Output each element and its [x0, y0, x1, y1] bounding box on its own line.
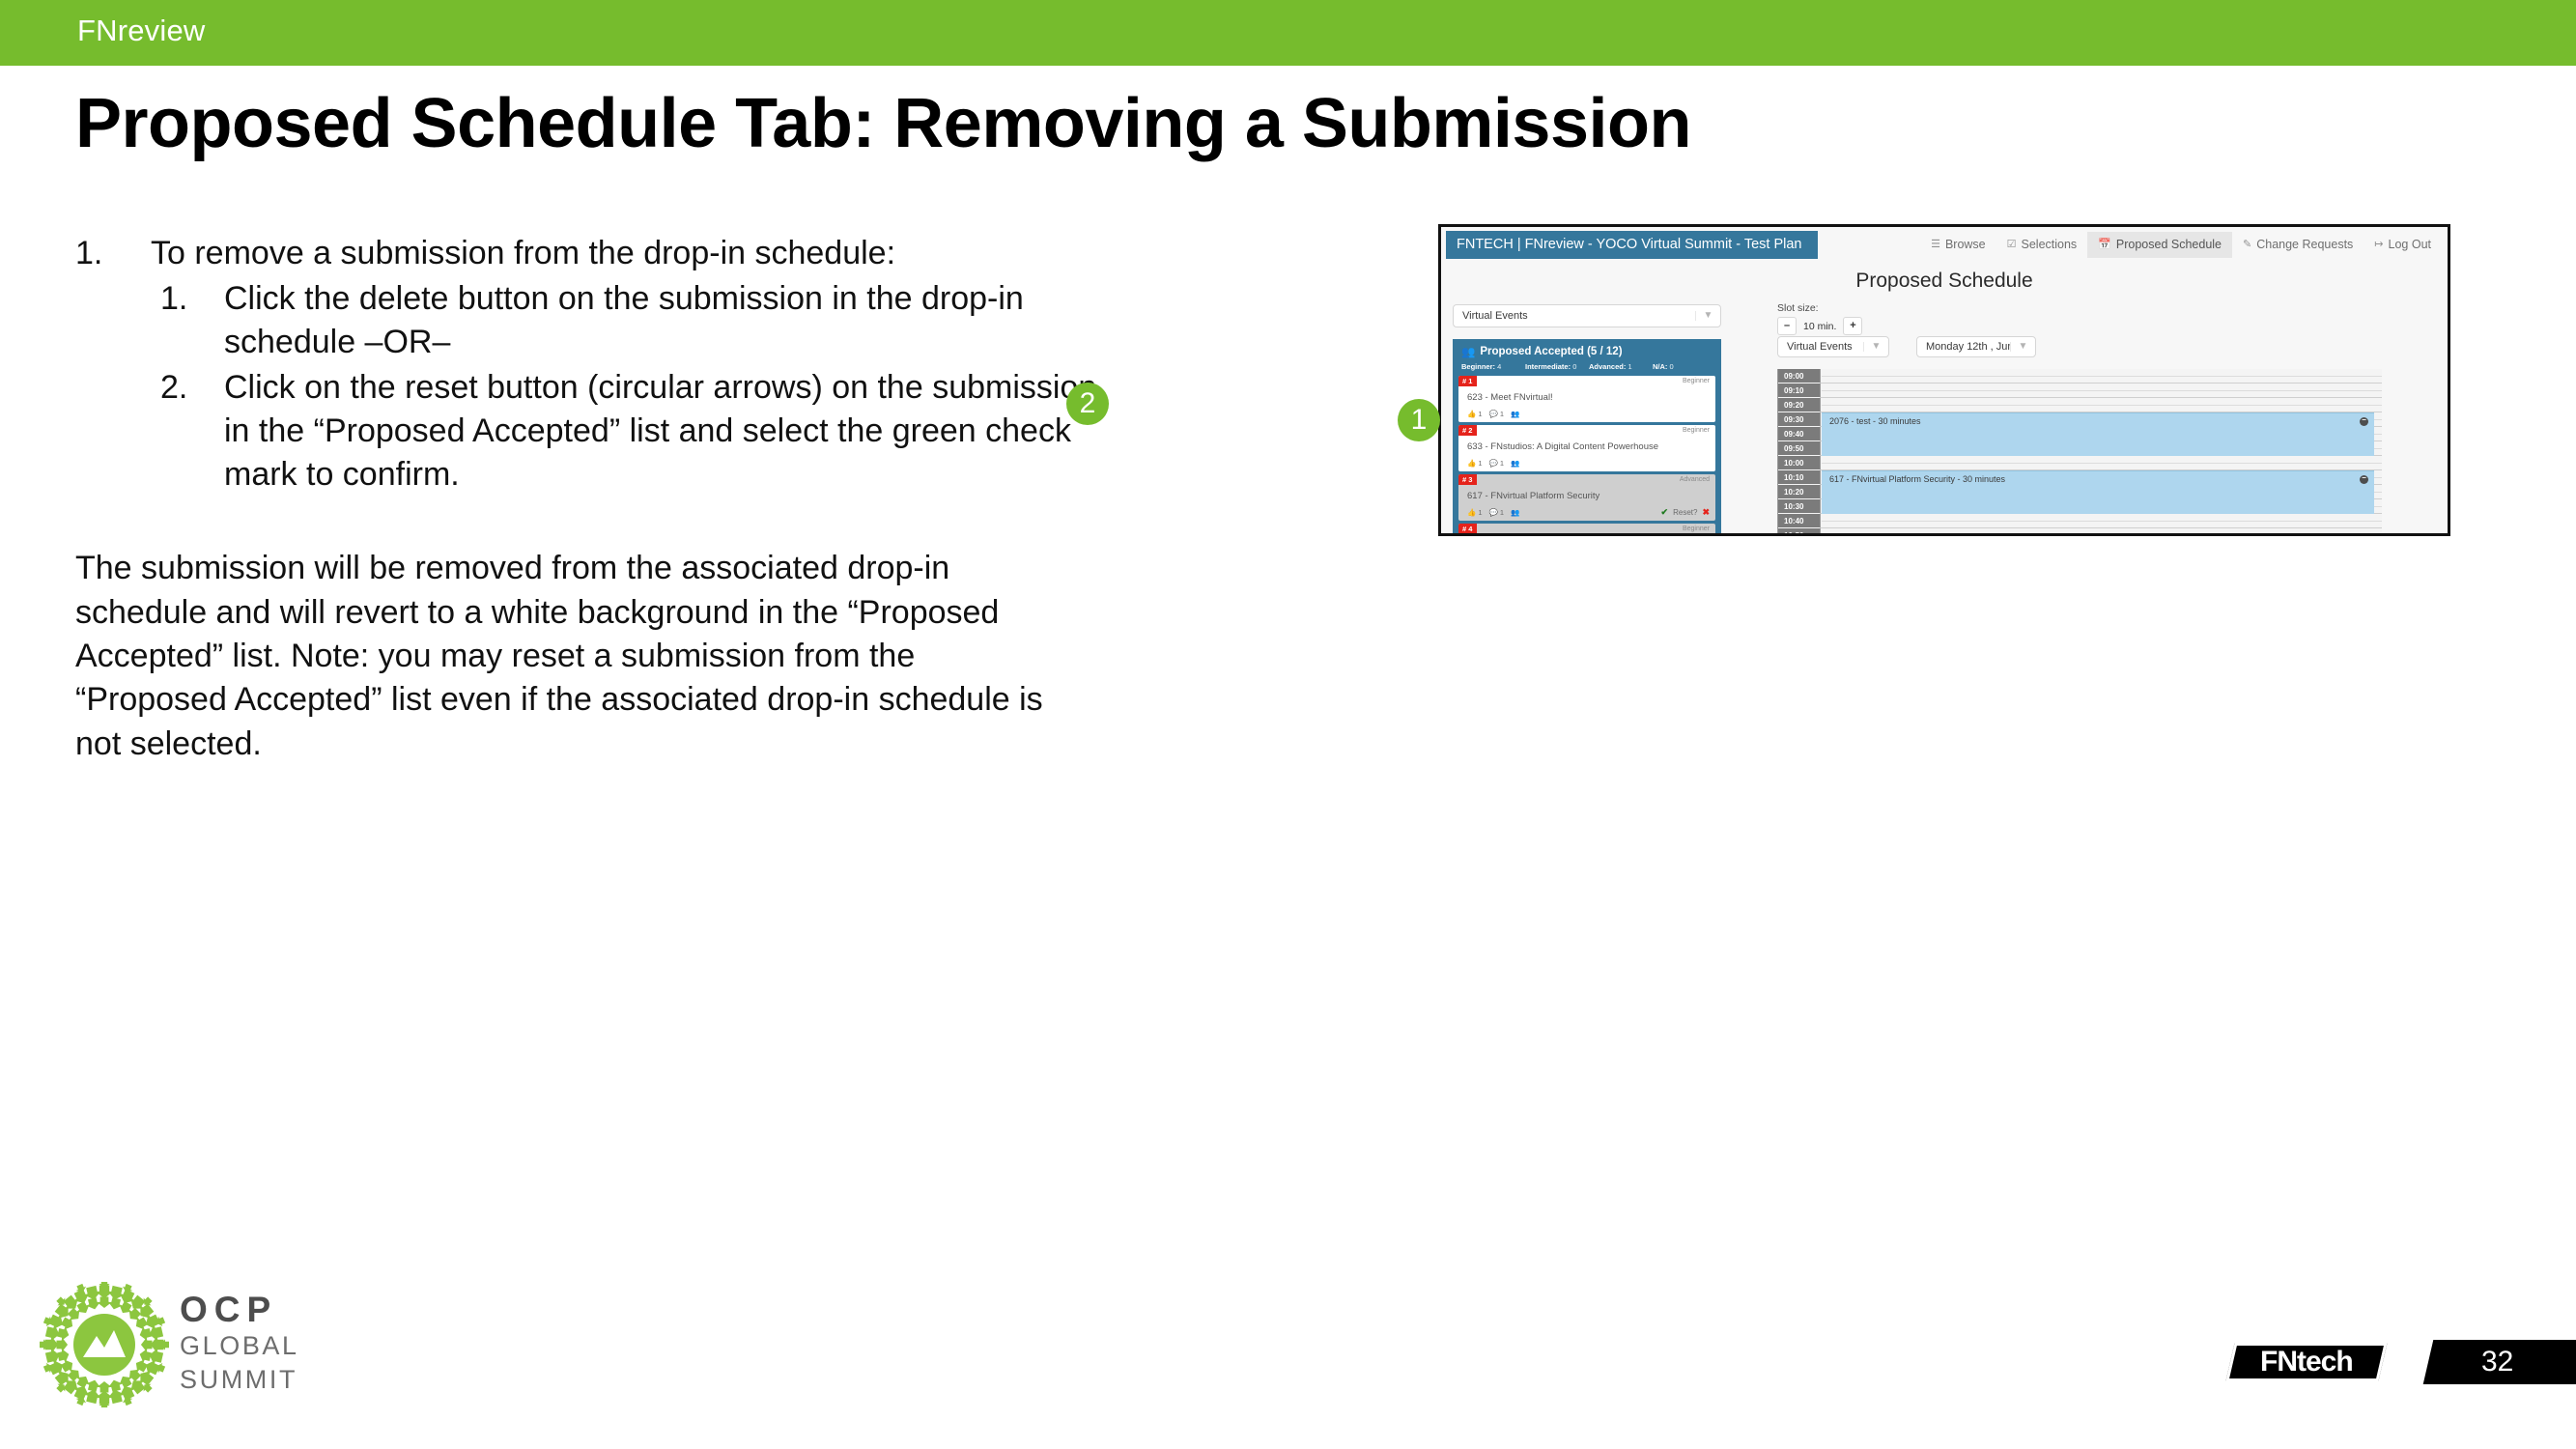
event-delete-button[interactable]: − [2360, 475, 2368, 484]
nav-label: Selections [2022, 239, 2078, 251]
app-nav: ☰ Browse ☑ Selections 📅 Proposed Schedul… [1920, 231, 2442, 259]
level-label: Beginner [1683, 378, 1710, 384]
submission-card[interactable]: # 2 Beginner 633 - FNstudios: A Digital … [1458, 425, 1715, 471]
comment-icon: 💬 [1489, 410, 1498, 418]
list-marker: 1. [75, 232, 129, 275]
cancel-x-icon[interactable]: ✖ [1702, 507, 1710, 518]
page-number-badge: 32 [2441, 1340, 2576, 1384]
rank-badge: # 2 [1458, 425, 1477, 436]
schedule-time-label: 10:30 [1778, 499, 1821, 514]
schedule-row[interactable]: 10:50 [1778, 528, 2382, 533]
slot-size-value: 10 min. [1801, 321, 1838, 332]
level-label: Beginner [1683, 526, 1710, 532]
select-value: Virtual Events [1778, 341, 1863, 353]
nav-item-browse[interactable]: ☰ Browse [1920, 232, 1996, 258]
reset-confirm-actions: ✔ Reset? ✖ [1661, 507, 1710, 518]
event-delete-button[interactable]: − [2360, 417, 2368, 426]
submission-card[interactable]: # 4 Beginner 2076 - test 👍2 💬3 👥 ↻ [1458, 524, 1715, 533]
slide-top-bar: FNreview [0, 0, 2576, 66]
stat-intermediate: Intermediate: 0 [1525, 362, 1589, 371]
submission-card[interactable]: # 3 Advanced 617 - FNvirtual Platform Se… [1458, 474, 1715, 521]
schedule-time-label: 09:20 [1778, 398, 1821, 412]
schedule-time-label: 09:00 [1778, 369, 1821, 384]
event-filter-select[interactable]: Virtual Events ▼ [1453, 304, 1721, 327]
schedule-time-label: 10:20 [1778, 485, 1821, 499]
list-marker: 2. [160, 366, 214, 410]
panel-stats: Beginner: 4 Intermediate: 0 Advanced: 1 … [1453, 362, 1721, 376]
slot-size-increase-button[interactable]: + [1843, 317, 1862, 335]
schedule-grid[interactable]: 09:0009:1009:2009:3009:4009:5010:0010:10… [1777, 369, 2382, 533]
scheduled-event[interactable]: 2076 - test - 30 minutes − [1822, 412, 2374, 456]
callout-badge-2: 2 [1066, 383, 1109, 425]
comments-metric: 💬1 [1489, 508, 1505, 517]
deck-section-label: FNreview [77, 14, 206, 48]
event-title: 617 - FNvirtual Platform Security - 30 m… [1829, 474, 2005, 484]
schedule-row[interactable]: 09:00 [1778, 369, 2382, 384]
fntech-wordmark: FNtech [2260, 1346, 2353, 1378]
schedule-half-line [1822, 376, 2382, 377]
proposed-accepted-panel: 👥 Proposed Accepted (5 / 12) Beginner: 4… [1453, 339, 1721, 533]
people-icon: 👥 [1511, 410, 1519, 418]
submission-card-list: # 1 Beginner 623 - Meet FNvirtual! 👍1 💬1… [1453, 376, 1721, 533]
thumbs-up-icon: 👍 [1467, 508, 1476, 517]
schedule-time-label: 09:10 [1778, 384, 1821, 398]
comments-metric: 💬1 [1489, 410, 1505, 418]
schedule-time-label: 10:40 [1778, 514, 1821, 528]
date-select[interactable]: Monday 12th , June 2023 ▼ [1916, 336, 2036, 357]
list-item: 1. Click the delete button on the submis… [151, 277, 1128, 364]
schedule-time-label: 10:10 [1778, 470, 1821, 485]
app-page-heading: Proposed Schedule [1441, 270, 2448, 293]
logout-icon: ↦ [2374, 240, 2383, 250]
list-item-text: To remove a submission from the drop-in … [151, 235, 895, 271]
reset-confirm-label: Reset? [1673, 508, 1697, 517]
people-icon: 👥 [1461, 345, 1475, 358]
schedule-row[interactable]: 09:10 [1778, 384, 2382, 398]
chevron-down-icon: ▼ [2010, 342, 2035, 352]
rank-badge: # 3 [1458, 474, 1477, 485]
ocp-line-3: SUMMIT [180, 1363, 299, 1397]
edit-icon: ✎ [2243, 240, 2251, 250]
rank-badge: # 4 [1458, 524, 1477, 533]
event-title: 2076 - test - 30 minutes [1829, 416, 1921, 426]
likes-metric: 👍1 [1467, 459, 1483, 468]
page-number: 32 [2481, 1346, 2513, 1378]
slot-size-control: Slot size: – 10 min. + [1777, 302, 1862, 335]
likes-metric: 👍1 [1467, 508, 1483, 517]
confirm-check-icon[interactable]: ✔ [1661, 507, 1669, 518]
nav-item-selections[interactable]: ☑ Selections [1996, 232, 2088, 258]
ocp-arrow-burst-icon [37, 1282, 172, 1407]
schedule-time-label: 10:00 [1778, 456, 1821, 470]
list-icon: ☰ [1931, 240, 1940, 250]
submission-card[interactable]: # 1 Beginner 623 - Meet FNvirtual! 👍1 💬1… [1458, 376, 1715, 422]
page-title: Proposed Schedule Tab: Removing a Submis… [75, 85, 2297, 163]
instruction-sublist: 1. Click the delete button on the submis… [151, 277, 1128, 497]
nav-label: Browse [1945, 239, 1986, 251]
schedule-row[interactable]: 10:40 [1778, 514, 2382, 528]
chevron-down-icon: ▼ [1695, 311, 1720, 321]
nav-item-log-out[interactable]: ↦ Log Out [2364, 232, 2442, 258]
body-paragraph: The submission will be removed from the … [75, 547, 1070, 766]
likes-metric: 👍1 [1467, 410, 1483, 418]
nav-label: Log Out [2389, 239, 2431, 251]
callout-badge-1: 1 [1398, 399, 1440, 441]
list-marker: 1. [160, 277, 214, 321]
submission-title: 617 - FNvirtual Platform Security [1467, 491, 1708, 501]
schedule-time-label: 09:40 [1778, 427, 1821, 441]
nav-item-proposed-schedule[interactable]: 📅 Proposed Schedule [2087, 232, 2232, 258]
submission-title: 633 - FNstudios: A Digital Content Power… [1467, 441, 1708, 452]
stat-beginner: Beginner: 4 [1461, 362, 1525, 371]
thumbs-up-icon: 👍 [1467, 410, 1476, 418]
panel-title: Proposed Accepted (5 / 12) [1480, 346, 1622, 357]
slot-size-decrease-button[interactable]: – [1777, 317, 1797, 335]
schedule-half-line [1822, 463, 2382, 464]
submission-title: 623 - Meet FNvirtual! [1467, 392, 1708, 403]
list-item-text: Click the delete button on the submissio… [224, 280, 1024, 360]
chevron-down-icon: ▼ [1863, 342, 1888, 352]
select-value: Monday 12th , June 2023 [1917, 341, 2010, 353]
nav-label: Change Requests [2256, 239, 2353, 251]
thumbs-up-icon: 👍 [1467, 459, 1476, 468]
level-label: Advanced [1680, 476, 1710, 483]
fntech-logo: FNtech [2225, 1343, 2387, 1381]
schedule-half-line [1822, 521, 2382, 522]
rank-badge: # 1 [1458, 376, 1477, 386]
select-value: Virtual Events [1454, 310, 1695, 322]
comment-icon: 💬 [1489, 459, 1498, 468]
calendar-icon: 📅 [2098, 240, 2111, 250]
people-icon: 👥 [1511, 459, 1519, 468]
ocp-logo: OCP GLOBAL SUMMIT [37, 1282, 297, 1407]
ocp-line-1: OCP [180, 1292, 299, 1329]
schedule-time-label: 10:50 [1778, 528, 1821, 533]
instruction-list: 1. To remove a submission from the drop-… [75, 232, 1128, 497]
ocp-line-2: GLOBAL [180, 1329, 299, 1363]
nav-item-change-requests[interactable]: ✎ Change Requests [2232, 232, 2364, 258]
list-item: 2. Click on the reset button (circular a… [151, 366, 1128, 497]
stat-advanced: Advanced: 1 [1589, 362, 1653, 371]
list-item-text: Click on the reset button (circular arro… [224, 369, 1096, 493]
schedule-time-label: 09:30 [1778, 412, 1821, 427]
card-metrics: 👍1 💬1 👥 [1467, 508, 1519, 517]
level-label: Beginner [1683, 427, 1710, 434]
card-metrics: 👍1 💬1 👥 [1467, 410, 1519, 418]
schedule-row[interactable]: 10:00 [1778, 456, 2382, 470]
body-content: 1. To remove a submission from the drop-… [75, 232, 1128, 766]
slot-size-label: Slot size: [1777, 302, 1862, 314]
list-item: 1. To remove a submission from the drop-… [75, 232, 1128, 497]
stat-na: N/A: 0 [1653, 362, 1716, 371]
schedule-row[interactable]: 09:20 [1778, 398, 2382, 412]
schedule-half-line [1822, 390, 2382, 391]
room-select[interactable]: Virtual Events ▼ [1777, 336, 1889, 357]
schedule-time-label: 09:50 [1778, 441, 1821, 456]
people-icon: 👥 [1511, 508, 1519, 517]
nav-label: Proposed Schedule [2116, 239, 2222, 251]
comment-icon: 💬 [1489, 508, 1498, 517]
panel-header: 👥 Proposed Accepted (5 / 12) [1453, 339, 1721, 362]
comments-metric: 💬1 [1489, 459, 1505, 468]
schedule-half-line [1822, 405, 2382, 406]
checkbox-icon: ☑ [2007, 240, 2017, 250]
card-metrics: 👍1 💬1 👥 [1467, 459, 1519, 468]
app-titlebar: FNTECH | FNreview - YOCO Virtual Summit … [1446, 231, 1818, 259]
ocp-wordmark: OCP GLOBAL SUMMIT [180, 1292, 299, 1397]
scheduled-event[interactable]: 617 - FNvirtual Platform Security - 30 m… [1822, 470, 2374, 514]
app-screenshot: FNTECH | FNreview - YOCO Virtual Summit … [1438, 224, 2450, 536]
